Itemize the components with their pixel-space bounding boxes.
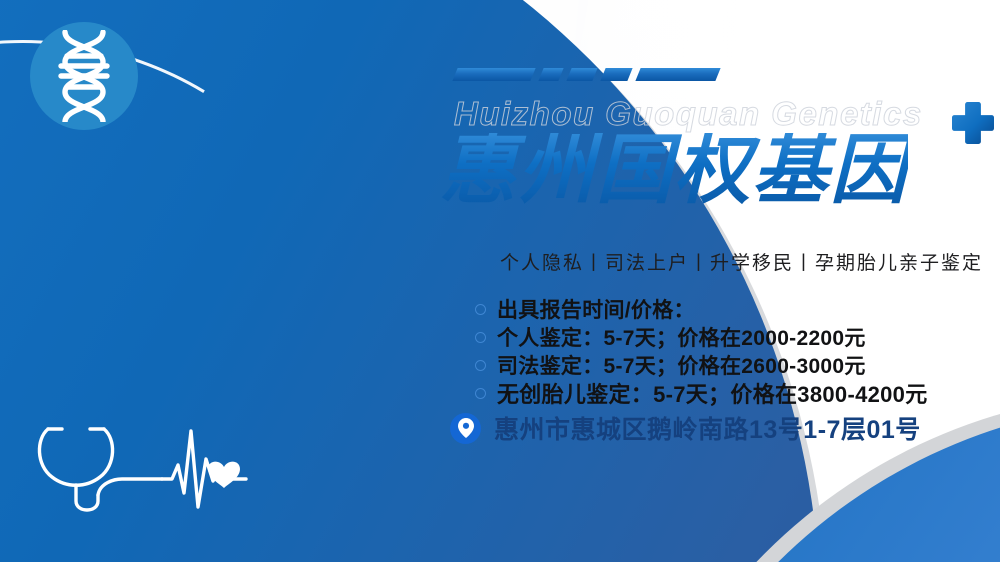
list-item: 个人鉴定：5-7天；价格在2000-2200元 [475, 324, 995, 350]
list-item: 出具报告时间/价格： [475, 296, 995, 322]
medical-cross-icon [950, 100, 996, 146]
slanted-dashes-icon [455, 66, 718, 82]
service-subtitle: 个人隐私丨司法上户丨升学移民丨孕期胎儿亲子鉴定 [500, 248, 970, 275]
address-block: 惠州市惠城区鹅岭南路13号1-7层01号 [450, 410, 921, 446]
content-column: Huizhou Guoquan Genetics 惠州国权基因 个人隐私丨司法上… [430, 0, 1000, 562]
list-item-label: 个人鉴定：5-7天；价格在2000-2200元 [497, 322, 866, 352]
circle-outline-icon [475, 304, 486, 315]
list-item-label: 出具报告时间/价格： [497, 294, 695, 324]
address-label: 惠州市惠城区鹅岭南路13号1-7层01号 [494, 410, 921, 446]
dna-helix-icon [30, 22, 138, 130]
list-item: 司法鉴定：5-7天；价格在2600-3000元 [475, 352, 995, 378]
stethoscope-ecg-heart-icon [28, 415, 248, 525]
page-title: 惠州国权基因 [440, 133, 908, 209]
location-pin-icon [450, 413, 481, 444]
service-list: 出具报告时间/价格： 个人鉴定：5-7天；价格在2000-2200元 司法鉴定：… [475, 296, 995, 408]
promo-banner: Huizhou Guoquan Genetics 惠州国权基因 个人隐私丨司法上… [0, 0, 1000, 562]
circle-outline-icon [475, 332, 486, 343]
list-item-label: 司法鉴定：5-7天；价格在2600-3000元 [497, 350, 866, 380]
list-item: 无创胎儿鉴定：5-7天；价格在3800-4200元 [475, 380, 995, 406]
circle-outline-icon [475, 360, 486, 371]
circle-outline-icon [475, 388, 486, 399]
list-item-label: 无创胎儿鉴定：5-7天；价格在3800-4200元 [497, 377, 928, 409]
